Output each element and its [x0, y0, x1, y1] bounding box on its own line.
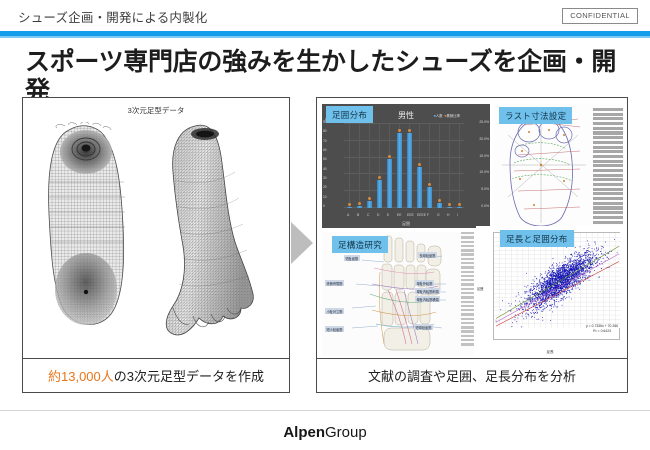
header-rule-light [0, 36, 650, 38]
bar-F [427, 187, 432, 208]
bar-chart-plot: ABCDEEEEEEEEEEFGHI [344, 124, 464, 208]
bar-I [457, 207, 462, 209]
cumulative-point-I [458, 203, 461, 206]
y-tick-right: 10.0% [479, 170, 489, 174]
logo-bold: Alpen [283, 424, 325, 441]
cumulative-point-EE [398, 129, 401, 132]
y-tick-left: 40 [323, 167, 327, 171]
y-tick-right: 15.0% [479, 154, 489, 158]
logo-light: Group [325, 424, 367, 441]
bar-chart-legend: ■人数 ■累積比率 [434, 113, 460, 118]
y-tick-left: 20 [323, 185, 327, 189]
bar-EE [397, 133, 402, 208]
left-panel-subtitle: 3次元足型データ [23, 105, 289, 116]
y-tick-left: 50 [323, 157, 327, 161]
y-tick-right: 20.0% [479, 137, 489, 141]
x-tick-D: D [377, 213, 379, 217]
x-tick-G: G [437, 213, 440, 217]
slide: シューズ企画・開発による内製化 CONFIDENTIAL スポーツ専門店の強みを… [0, 0, 650, 450]
scatter-r2: R² = 0.6424 [586, 329, 618, 334]
left-caption-rest: の3次元足型データを作成 [114, 366, 264, 385]
cumulative-point-E [388, 155, 391, 158]
x-tick-EEEE: EEEE [417, 213, 426, 217]
badge-length-girth: 足長と足囲分布 [500, 230, 574, 247]
panel-3d-foot-data: 3次元足型データ [22, 97, 290, 393]
bar-B [357, 206, 362, 208]
cumulative-point-F [428, 183, 431, 186]
y-tick-left: 70 [323, 139, 327, 143]
cumulative-point-D [378, 176, 381, 179]
foot-mesh-side-view [149, 120, 267, 344]
x-tick-EE: EE [397, 213, 402, 217]
y-tick-left: 80 [323, 129, 327, 133]
fs-label-8: 短母趾屈筋 [414, 324, 433, 330]
x-tick-H: H [447, 213, 449, 217]
foot-mesh-top-view [39, 122, 135, 338]
diagram-foot-structure: 短趾屈筋 長母趾屈筋 底側骨間筋 母趾外転筋 母趾内転筋斜頭 母趾内転筋横頭 小… [322, 232, 474, 356]
header-title: シューズ企画・開発による内製化 [18, 7, 208, 26]
scatter-annotation: y = 0.7336x + 70.266 R² = 0.6424 [586, 324, 618, 334]
left-caption-highlight: 約13,000人 [48, 366, 114, 385]
brand-logo: AlpenGroup [0, 424, 650, 441]
flow-arrow-icon [291, 222, 313, 264]
bar-H [447, 207, 452, 209]
foot-scan-images [23, 116, 289, 352]
chart-foot-girth-distribution: 男性 ■人数 ■累積比率 人数 ABCDEEEEEEEEEEFGHI 足囲 01… [322, 104, 490, 228]
confidential-badge: CONFIDENTIAL [562, 8, 638, 24]
scatter-ylabel: 足囲 [477, 286, 483, 291]
bar-EEEE [417, 167, 422, 208]
badge-last-dimension: ラスト寸法設定 [499, 107, 572, 124]
y-tick-right: 5.0% [481, 187, 489, 191]
cumulative-point-EEE [408, 129, 411, 132]
fs-label-7: 短小趾屈筋 [325, 326, 344, 332]
x-tick-F: F [427, 213, 429, 217]
diagram-last-dimension: ラスト寸法設定 [493, 104, 624, 231]
last-dimension-value-list [593, 108, 623, 226]
fs-label-0: 短趾屈筋 [344, 255, 360, 261]
x-tick-B: B [357, 213, 359, 217]
cumulative-point-G [438, 199, 441, 202]
bar-EEE [407, 133, 412, 208]
badge-foot-structure: 足構造研究 [332, 236, 388, 253]
footer-divider [0, 410, 650, 411]
cumulative-point-B [358, 202, 361, 205]
right-panel-caption: 文献の調査や足囲、足長分布を分析 [317, 358, 627, 392]
right-caption-text: 文献の調査や足囲、足長分布を分析 [368, 366, 576, 385]
bar-D [377, 180, 382, 208]
x-tick-I: I [457, 213, 458, 217]
bar-G [437, 203, 442, 208]
bar-A [347, 207, 352, 209]
fs-label-4: 母趾内転筋斜頭 [415, 288, 440, 294]
chart-length-girth-scatter: 足囲 y = 0.7336x + 70.266 R² = 0.6424 足長 足… [476, 226, 624, 356]
bar-chart-xlabel: 足囲 [322, 221, 490, 227]
y-tick-right: 0.0% [481, 204, 489, 208]
bar-C [367, 201, 372, 208]
fs-label-1: 長母趾屈筋 [418, 252, 437, 258]
bar-E [387, 159, 392, 208]
cumulative-point-EEEE [418, 163, 421, 166]
scatter-xlabel: 足長 [476, 350, 624, 355]
y-tick-left: 60 [323, 148, 327, 152]
badge-foot-girth: 足囲分布 [326, 106, 373, 123]
y-tick-left: 0 [323, 204, 325, 208]
fs-label-3: 母趾外転筋 [415, 280, 434, 286]
left-panel-caption: 約13,000人の3次元足型データを作成 [23, 358, 289, 392]
x-tick-C: C [367, 213, 369, 217]
y-tick-left: 30 [323, 176, 327, 180]
fs-label-2: 底側骨間筋 [325, 280, 344, 286]
slide-header: シューズ企画・開発による内製化 CONFIDENTIAL [0, 0, 650, 32]
y-tick-right: 25.0% [479, 120, 489, 124]
y-tick-left: 10 [323, 195, 327, 199]
fs-label-5: 母趾内転筋横頭 [415, 296, 440, 302]
x-tick-EEE: EEE [407, 213, 414, 217]
x-tick-A: A [347, 213, 349, 217]
fs-label-6: 小趾対立筋 [325, 308, 344, 314]
cumulative-point-H [448, 203, 451, 206]
cumulative-point-A [348, 203, 351, 206]
foot-structure-scale [461, 232, 474, 356]
x-tick-E: E [387, 213, 389, 217]
panel-research-analysis: 男性 ■人数 ■累積比率 人数 ABCDEEEEEEEEEEFGHI 足囲 01… [316, 97, 628, 393]
